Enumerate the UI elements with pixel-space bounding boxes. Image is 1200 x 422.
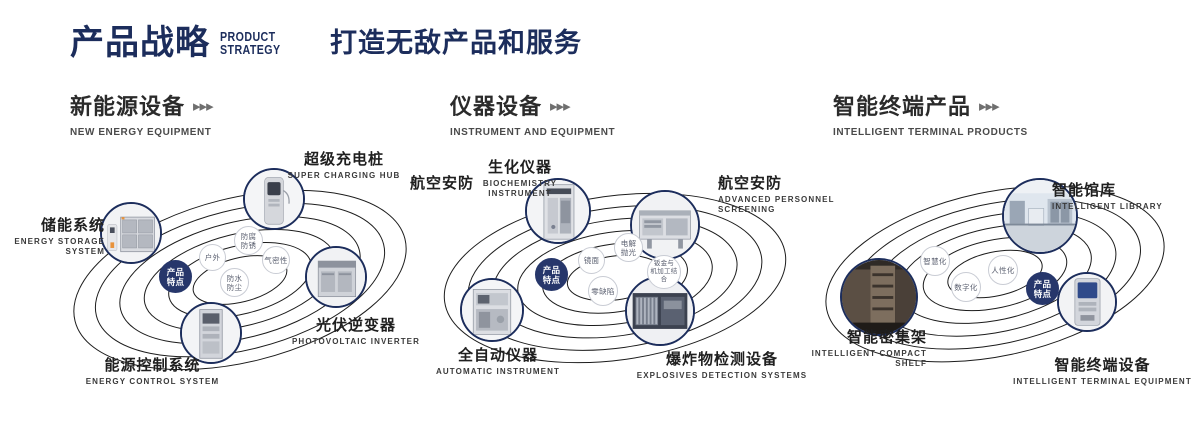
energy-control-cabinet-image <box>182 304 240 362</box>
cluster-new-energy: 产品 特点 户外 防腐 防锈 防水 防尘 气密性 <box>40 150 440 390</box>
section-header-new-energy: 新能源设备▸▸▸ NEW ENERGY EQUIPMENT <box>70 96 219 138</box>
section-header-instrument: 仪器设备▸▸▸ INSTRUMENT AND EQUIPMENT <box>450 96 624 138</box>
bubble-intelligent-compact-shelf[interactable] <box>840 258 918 336</box>
label-en-line2: SYSTEM <box>0 247 105 257</box>
chip-sheetmetal-machining[interactable]: 钣金与 机加工结合 <box>647 255 681 289</box>
chip-mirror[interactable]: 镜面 <box>578 247 605 274</box>
label-en-line2: INSTRUMENT <box>465 189 575 199</box>
label-cn: 智能密集架 <box>795 330 927 346</box>
label-biochemistry-instrument: 生化仪器 BIOCHEMISTRY INSTRUMENT <box>465 160 575 199</box>
title-english: PRODUCT STRATEGY <box>220 30 281 56</box>
chip-waterproof-line2: 防尘 <box>227 283 243 292</box>
title-english-line2: STRATEGY <box>220 43 281 56</box>
chip-waterproof-line1: 防水 <box>227 274 243 283</box>
label-cn: 爆炸物检测设备 <box>632 352 812 368</box>
label-en-line1: BIOCHEMISTRY <box>465 179 575 189</box>
chip-electropolish-line2: 抛光 <box>621 248 637 257</box>
label-intelligent-terminal-equipment: 智能终端设备 INTELLIGENT TERMINAL EQUIPMENT <box>1010 358 1195 387</box>
chip-core-line2: 特点 <box>543 275 561 285</box>
label-en-line1: AUTOMATIC INSTRUMENT <box>428 367 568 377</box>
chip-humanized[interactable]: 人性化 <box>988 255 1018 285</box>
chip-core-line1: 产品 <box>167 267 185 277</box>
chip-sheetmetal-line1: 钣金与 <box>654 260 674 268</box>
chip-electropolish[interactable]: 电解 抛光 <box>614 233 643 262</box>
label-cn: 全自动仪器 <box>428 348 568 364</box>
label-intelligent-library: 智能馆库 INTELLIGENT LIBRARY <box>1052 183 1197 212</box>
section-header-intelligent-terminal: 智能终端产品▸▸▸ INTELLIGENT TERMINAL PRODUCTS <box>833 96 1038 138</box>
chip-core-product-features[interactable]: 产品 特点 <box>535 258 568 291</box>
section-title-cn: 智能终端产品▸▸▸ <box>833 96 1038 118</box>
bubble-photovoltaic-inverter[interactable] <box>305 246 367 308</box>
label-cn: 智能终端设备 <box>1010 358 1195 374</box>
label-energy-storage-system: 储能系统 ENERGY STORAGE SYSTEM <box>0 218 105 257</box>
bubble-intelligent-terminal-equipment[interactable] <box>1057 272 1117 332</box>
section-title-en: NEW ENERGY EQUIPMENT <box>70 126 211 138</box>
label-energy-control-system: 能源控制系统 ENERGY CONTROL SYSTEM <box>75 358 230 387</box>
section-title-cn: 仪器设备▸▸▸ <box>450 96 624 118</box>
section-title-en: INSTRUMENT AND EQUIPMENT <box>450 126 615 138</box>
label-en-line1: INTELLIGENT COMPACT <box>795 349 927 359</box>
chip-zero-defect[interactable]: 零缺陷 <box>588 276 618 306</box>
label-en-line2: SHELF <box>795 359 927 369</box>
chevrons-icon: ▸▸▸ <box>979 99 999 114</box>
section-title-cn: 新能源设备▸▸▸ <box>70 96 219 118</box>
label-super-charging-hub: 超级充电桩 SUPER CHARGING HUB <box>283 152 405 181</box>
label-cn: 能源控制系统 <box>75 358 230 374</box>
label-automatic-instrument: 全自动仪器 AUTOMATIC INSTRUMENT <box>428 348 568 377</box>
product-strategy-infographic: 产品战略 PRODUCT STRATEGY 打造无敌产品和服务 新能源设备▸▸▸… <box>0 0 1200 422</box>
page-subtitle: 打造无敌产品和服务 <box>330 30 582 57</box>
label-en-line1: ENERGY CONTROL SYSTEM <box>75 377 230 387</box>
section-title-en: INTELLIGENT TERMINAL PRODUCTS <box>833 126 1028 138</box>
bubble-energy-control-system[interactable] <box>180 302 242 364</box>
label-explosives-detection-systems: 爆炸物检测设备 EXPLOSIVES DETECTION SYSTEMS <box>632 352 812 381</box>
chip-core-line2: 特点 <box>1034 289 1052 299</box>
title-chinese: 产品战略 <box>70 26 210 60</box>
label-cn: 超级充电桩 <box>283 152 405 168</box>
chip-anticorrosion-line1: 防腐 <box>241 232 257 241</box>
chip-core-line1: 产品 <box>543 265 561 275</box>
chevrons-icon: ▸▸▸ <box>193 99 213 114</box>
chip-digital[interactable]: 数字化 <box>951 272 981 302</box>
label-en-line1: SUPER CHARGING HUB <box>283 171 405 181</box>
chip-core-product-features[interactable]: 产品 特点 <box>1026 272 1059 305</box>
energy-storage-cabinet-image <box>102 204 160 262</box>
label-en-line1: EXPLOSIVES DETECTION SYSTEMS <box>632 371 812 381</box>
chip-outdoor[interactable]: 户外 <box>199 244 226 271</box>
chip-waterproof[interactable]: 防水 防尘 <box>220 268 249 297</box>
page-title: 产品战略 PRODUCT STRATEGY <box>70 26 294 60</box>
chip-electropolish-line1: 电解 <box>621 239 637 248</box>
label-cn: 智能馆库 <box>1052 183 1197 199</box>
label-photovoltaic-inverter: 光伏逆变器 PHOTOVOLTAIC INVERTER <box>292 318 420 347</box>
label-en-line1: INTELLIGENT LIBRARY <box>1052 202 1197 212</box>
compact-shelf-image <box>842 260 916 334</box>
label-en-line1: PHOTOVOLTAIC INVERTER <box>292 337 420 347</box>
chip-airtight[interactable]: 气密性 <box>262 246 290 274</box>
chip-core-product-features[interactable]: 产品 特点 <box>159 260 192 293</box>
chip-smart[interactable]: 智慧化 <box>920 246 950 276</box>
label-en-line1: ENERGY STORAGE <box>0 237 105 247</box>
label-intelligent-compact-shelf: 智能密集架 INTELLIGENT COMPACT SHELF <box>795 330 927 369</box>
bubble-energy-storage-system[interactable] <box>100 202 162 264</box>
label-en-line1: INTELLIGENT TERMINAL EQUIPMENT <box>1010 377 1195 387</box>
chevrons-icon: ▸▸▸ <box>550 99 570 114</box>
chip-core-line2: 特点 <box>167 277 185 287</box>
chip-anticorrosion[interactable]: 防腐 防锈 <box>234 226 263 255</box>
chip-sheetmetal-line2: 机加工结合 <box>648 268 680 284</box>
chip-core-line1: 产品 <box>1034 279 1052 289</box>
chip-anticorrosion-line2: 防锈 <box>241 241 257 250</box>
terminal-kiosk-image <box>1059 274 1115 330</box>
photovoltaic-inverter-image <box>307 248 365 306</box>
label-cn: 光伏逆变器 <box>292 318 420 334</box>
bubble-automatic-instrument[interactable] <box>460 278 524 342</box>
label-cn: 储能系统 <box>0 218 105 234</box>
label-cn: 生化仪器 <box>465 160 575 176</box>
automatic-instrument-image <box>462 280 522 340</box>
